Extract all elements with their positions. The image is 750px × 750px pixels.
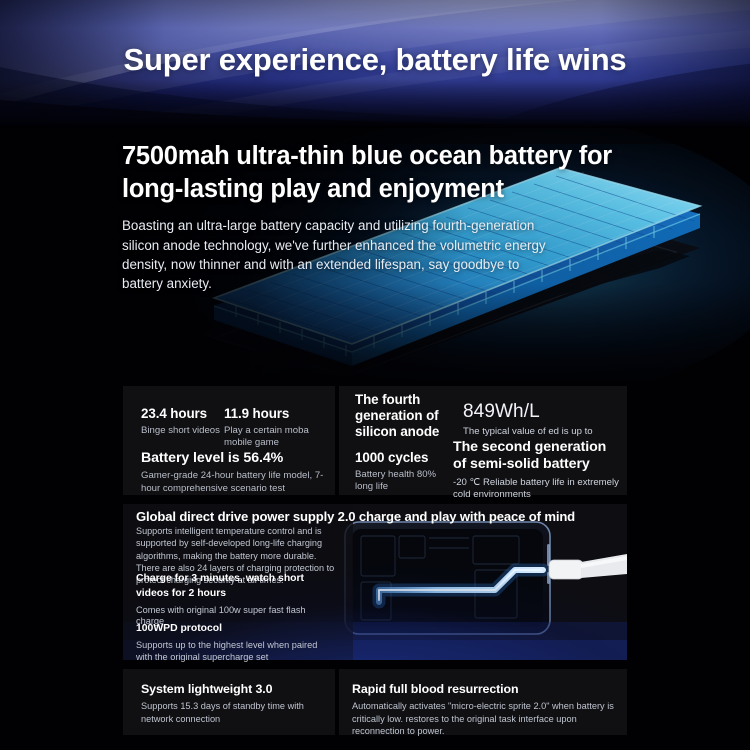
spec-cycles: 1000 cycles Battery health 80% long life [355,450,447,494]
hero-section: 7500mah ultra-thin blue ocean battery fo… [0,128,750,380]
spec-cycles-value: 1000 cycles [355,450,447,466]
spec-usage-video: 23.4 hours Binge short videos [141,406,231,437]
spec-usage-video-caption: Binge short videos [141,425,231,437]
spec-energy-density: 849Wh/L The typical value of ed is up to [463,402,623,438]
spec-silicon-anode-value: The fourth generation of silicon anode [355,392,451,440]
spec-semi-solid-caption: -20 ℃ Reliable battery life in extremely… [453,477,623,502]
product-page: Super experience, battery life wins [0,0,750,750]
charging-title: Global direct drive power supply 2.0 cha… [136,509,616,524]
hero-copy: 7500mah ultra-thin blue ocean battery fo… [122,140,642,293]
spec-cycles-caption: Battery health 80% long life [355,469,447,494]
hero-banner: Super experience, battery life wins [0,0,750,128]
charging-feature-pd: 100WPD protocol Supports up to the highe… [136,622,326,664]
hero-heading-line1: 7500mah ultra-thin blue ocean battery fo… [122,140,642,173]
spec-semi-solid: The second generation of semi-solid batt… [453,439,623,501]
charging-feature-fast-title: Charge for 3 minutes, watch short videos… [136,572,321,602]
spec-semi-solid-value: The second generation of semi-solid batt… [453,439,623,474]
hero-heading-line2: long-lasting play and enjoyment [122,173,642,206]
spec-battery-level: Battery level is 56.4% Gamer-grade 24-ho… [141,450,331,495]
hero-paragraph: Boasting an ultra-large battery capacity… [122,216,560,293]
rapid-resurrection-title: Rapid full blood resurrection [352,682,617,696]
spec-silicon-anode: The fourth generation of silicon anode [355,392,451,440]
spec-usage-game-caption: Play a certain moba mobile game [224,425,324,450]
spec-usage-game-value: 11.9 hours [224,406,324,422]
charging-feature-pd-caption: Supports up to the highest level when pa… [136,640,326,664]
rapid-resurrection-block: Rapid full blood resurrection Automatica… [352,682,617,738]
spec-usage-game: 11.9 hours Play a certain moba mobile ga… [224,406,324,450]
spec-usage-video-value: 23.4 hours [141,406,231,422]
system-lightweight-block: System lightweight 3.0 Supports 15.3 day… [141,682,331,725]
banner-title: Super experience, battery life wins [0,42,750,78]
charging-feature-pd-title: 100WPD protocol [136,622,326,637]
system-lightweight-title: System lightweight 3.0 [141,682,331,696]
system-lightweight-caption: Supports 15.3 days of standby time with … [141,700,331,725]
spec-energy-density-value: 849Wh/L [463,402,623,423]
spec-battery-level-caption: Gamer-grade 24-hour battery life model, … [141,470,331,495]
charging-feature-fast: Charge for 3 minutes, watch short videos… [136,572,321,628]
spec-battery-level-value: Battery level is 56.4% [141,450,331,467]
spec-energy-density-caption: The typical value of ed is up to [463,426,623,438]
rapid-resurrection-caption: Automatically activates "micro-electric … [352,700,617,738]
